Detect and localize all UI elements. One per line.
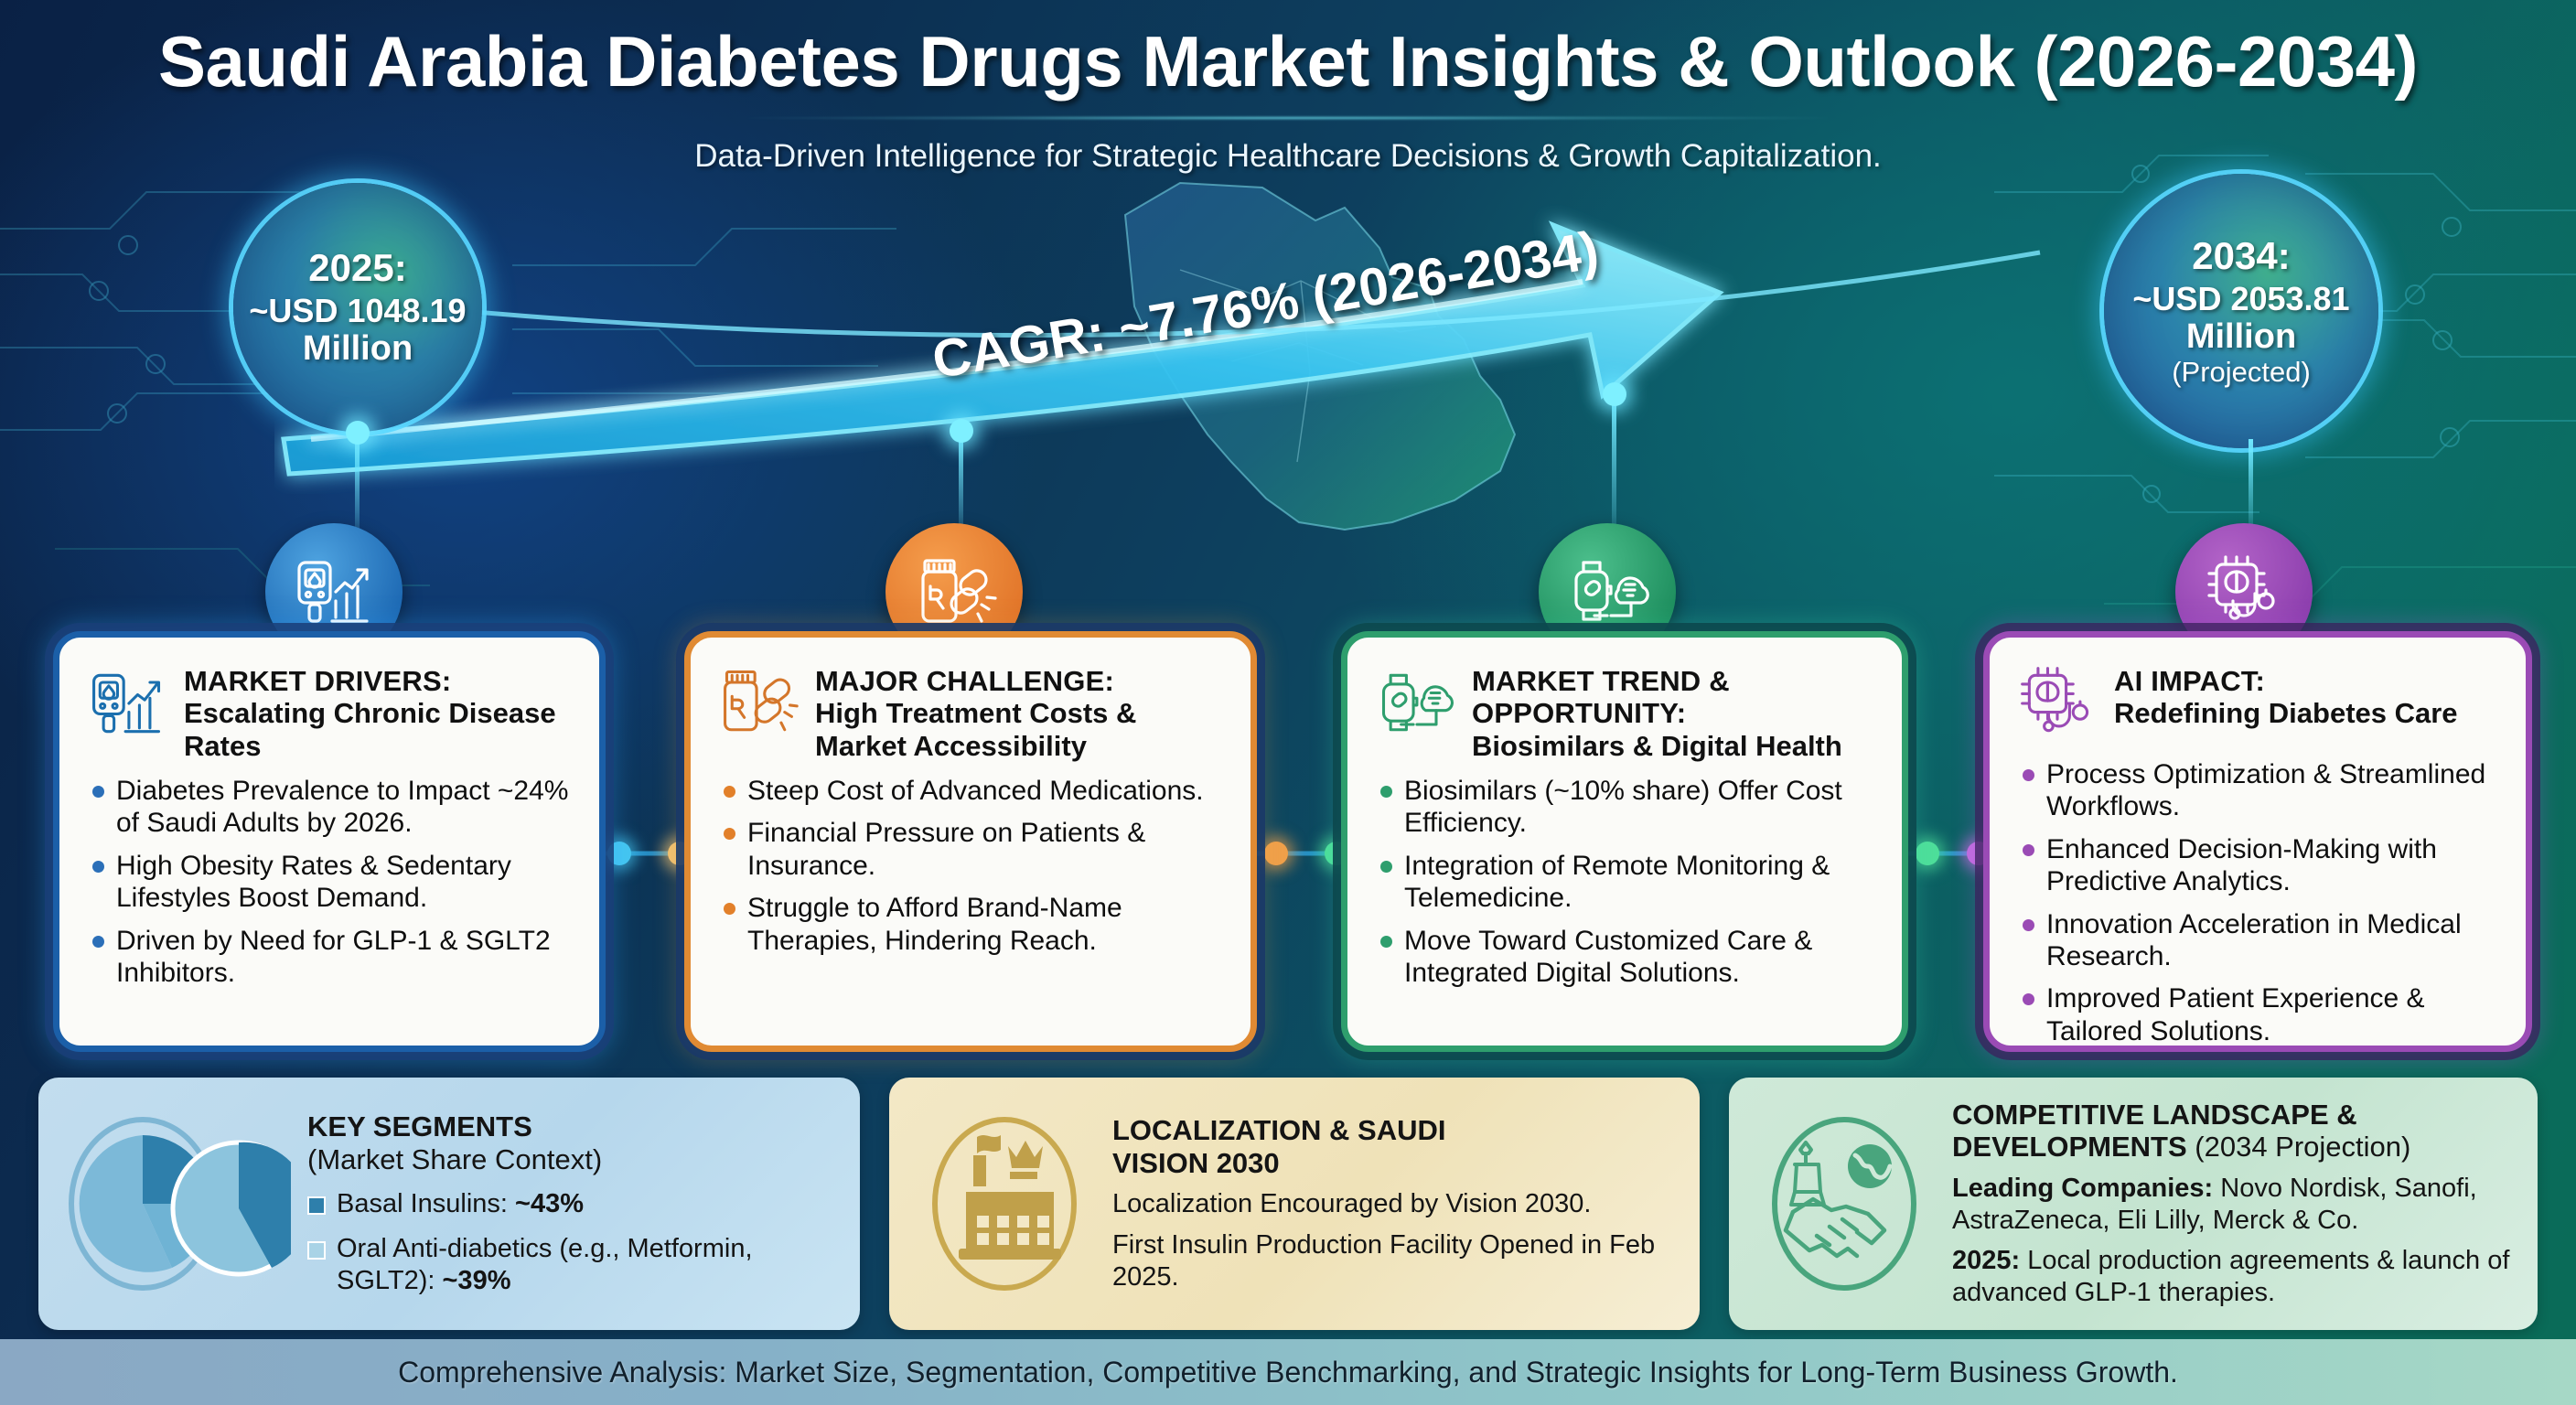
footer-text: Comprehensive Analysis: Market Size, Seg… [398,1356,2178,1389]
legend-label: Oral Anti-diabetics (e.g., Metformin, SG… [337,1234,753,1295]
handshake-globe-icon [1753,1099,1936,1309]
footer-bar: Comprehensive Analysis: Market Size, Seg… [0,1339,2576,1405]
header: Saudi Arabia Diabetes Drugs Market Insig… [0,0,2576,175]
developments-2025-line: 2025: Local production agreements & laun… [1952,1245,2514,1309]
card-bullet-list: Steep Cost of Advanced Medications. Fina… [716,775,1225,957]
localization-line-2: First Insulin Production Facility Opened… [1112,1229,1676,1293]
card-header: AI IMPACT: Redefining Diabetes Care [2015,661,2500,745]
value-2025: ~USD 1048.19 [249,293,466,329]
market-value-2034-circle: 2034: ~USD 2053.81 Million (Projected) [2104,174,2378,448]
panel-localization[interactable]: LOCALIZATION & SAUDI VISION 2030 Localiz… [889,1078,1700,1330]
card-subtitle: High Treatment Costs & Market Accessibil… [815,697,1225,762]
list-item: Struggle to Afford Brand-Name Therapies,… [716,892,1225,957]
panel-text: KEY SEGMENTS (Market Share Context) Basa… [307,1110,836,1296]
market-value-2025-circle: 2025: ~USD 1048.19 Million [233,183,482,432]
panel-text: COMPETITIVE LANDSCAPE & DEVELOPMENTS (20… [1952,1099,2514,1309]
rx-bottle-pills-icon [716,661,800,745]
panel-key-segments[interactable]: KEY SEGMENTS (Market Share Context) Basa… [38,1078,860,1330]
insight-cards: MARKET DRIVERS: Escalating Chronic Disea… [0,631,2576,1052]
card-header: MARKET DRIVERS: Escalating Chronic Disea… [85,661,574,762]
glucometer-growth-chart-badge-icon [290,548,378,636]
card-bullet-list: Biosimilars (~10% share) Offer Cost Effi… [1373,775,1876,989]
panel-title-bold: KEY SEGMENTS [307,1110,532,1142]
projected-note-2034: (Projected) [2172,357,2311,389]
legend-item-basal-insulins: Basal Insulins: ~43% [307,1188,836,1220]
stem-2 [959,430,963,529]
card-kicker: MAJOR CHALLENGE: [815,665,1225,697]
list-item: Improved Patient Experience & Tailored S… [2015,982,2500,1047]
pie-chart-icon [62,1089,291,1318]
stem-4 [2249,439,2253,529]
card-kicker: AI IMPACT: [2114,665,2458,697]
panel-body: LOCALIZATION & SAUDI VISION 2030 Localiz… [913,1094,1676,1314]
leading-companies-label: Leading Companies: [1952,1174,2213,1203]
list-item: Move Toward Customized Care & Integrated… [1373,925,1876,990]
stem-3 [1612,393,1616,529]
legend-swatch-icon [307,1196,326,1215]
panel-title-regular: (2034 Projection) [2195,1131,2410,1163]
panel-title: KEY SEGMENTS (Market Share Context) [307,1110,836,1175]
panel-title-line1: LOCALIZATION & SAUDI [1112,1114,1446,1146]
card-bullet-list: Process Optimization & Streamlined Workf… [2015,758,2500,1047]
panel-title-line2: VISION 2030 [1112,1147,1280,1179]
card-titles: MARKET DRIVERS: Escalating Chronic Disea… [184,661,574,762]
card-kicker: MARKET DRIVERS: [184,665,574,697]
panel-competitive-landscape[interactable]: COMPETITIVE LANDSCAPE & DEVELOPMENTS (20… [1729,1078,2538,1330]
list-item: Financial Pressure on Patients & Insuran… [716,817,1225,882]
page-title: Saudi Arabia Diabetes Drugs Market Insig… [0,20,2576,103]
page-subtitle: Data-Driven Intelligence for Strategic H… [0,138,2576,175]
card-market-trend[interactable]: MARKET TREND & OPPORTUNITY: Biosimilars … [1341,631,1908,1052]
glucometer-growth-chart-icon [85,661,169,745]
card-header: MARKET TREND & OPPORTUNITY: Biosimilars … [1373,661,1876,762]
node-dot-2 [950,419,973,443]
ai-brain-chip-stethoscope-badge-icon [2200,548,2288,636]
panel-title-regular: (Market Share Context) [307,1143,602,1175]
panel-title: LOCALIZATION & SAUDI VISION 2030 [1112,1114,1676,1179]
legend-value: ~43% [515,1189,584,1218]
leading-companies-line: Leading Companies: Novo Nordisk, Sanofi,… [1952,1173,2514,1237]
list-item: Diabetes Prevalence to Impact ~24% of Sa… [85,775,574,840]
value-2034: ~USD 2053.81 [2132,281,2349,317]
card-subtitle: Escalating Chronic Disease Rates [184,697,574,762]
card-titles: MARKET TREND & OPPORTUNITY: Biosimilars … [1472,661,1876,762]
card-subtitle: Redefining Diabetes Care [2114,697,2458,729]
ai-brain-chip-stethoscope-icon [2015,661,2099,745]
smartwatch-cloud-badge-icon [1563,548,1651,636]
panel-text: LOCALIZATION & SAUDI VISION 2030 Localiz… [1112,1114,1676,1292]
card-titles: MAJOR CHALLENGE: High Treatment Costs & … [815,661,1225,762]
developments-year-value: Local production agreements & launch of … [1952,1246,2509,1307]
list-item: Enhanced Decision-Making with Predictive… [2015,833,2500,898]
list-item: Integration of Remote Monitoring & Telem… [1373,850,1876,915]
card-titles: AI IMPACT: Redefining Diabetes Care [2114,661,2458,730]
segment-legend: Basal Insulins: ~43% Oral Anti-diabetics… [307,1188,836,1296]
panel-title: COMPETITIVE LANDSCAPE & DEVELOPMENTS (20… [1952,1099,2514,1164]
list-item: High Obesity Rates & Sedentary Lifestyle… [85,850,574,915]
bottom-panels: KEY SEGMENTS (Market Share Context) Basa… [0,1078,2576,1330]
factory-crown-icon [913,1099,1096,1309]
title-glow-divider [748,116,1828,120]
node-dot-2025 [346,421,370,445]
list-item: Driven by Need for GLP-1 & SGLT2 Inhibit… [85,925,574,990]
list-item: Steep Cost of Advanced Medications. [716,775,1225,807]
legend-swatch-icon [307,1241,326,1260]
panel-body: COMPETITIVE LANDSCAPE & DEVELOPMENTS (20… [1753,1094,2514,1314]
list-item: Process Optimization & Streamlined Workf… [2015,758,2500,823]
card-kicker: MARKET TREND & OPPORTUNITY: [1472,665,1876,730]
card-ai-impact[interactable]: AI IMPACT: Redefining Diabetes Care Proc… [1983,631,2532,1052]
list-item: Innovation Acceleration in Medical Resea… [2015,908,2500,973]
unit-2025: Million [303,329,413,369]
legend-value: ~39% [443,1266,511,1295]
card-market-drivers[interactable]: MARKET DRIVERS: Escalating Chronic Disea… [53,631,606,1052]
smartwatch-cloud-icon [1373,661,1457,745]
infographic-root: Saudi Arabia Diabetes Drugs Market Insig… [0,0,2576,1405]
legend-item-oral-antidiabetics: Oral Anti-diabetics (e.g., Metformin, SG… [307,1233,836,1297]
year-2034-label: 2034: [2192,234,2290,277]
unit-2034: Million [2186,317,2296,357]
developments-year-label: 2025: [1952,1246,2020,1275]
card-bullet-list: Diabetes Prevalence to Impact ~24% of Sa… [85,775,574,989]
panel-body: KEY SEGMENTS (Market Share Context) Basa… [62,1094,836,1314]
card-subtitle: Biosimilars & Digital Health [1472,730,1876,762]
card-major-challenge[interactable]: MAJOR CHALLENGE: High Treatment Costs & … [684,631,1257,1052]
list-item: Biosimilars (~10% share) Offer Cost Effi… [1373,775,1876,840]
card-header: MAJOR CHALLENGE: High Treatment Costs & … [716,661,1225,762]
localization-line-1: Localization Encouraged by Vision 2030. [1112,1188,1676,1220]
stem-2025 [355,432,360,532]
rx-bottle-pills-badge-icon [910,548,998,636]
legend-label: Basal Insulins: [337,1189,515,1218]
node-dot-3 [1603,382,1626,406]
year-2025-label: 2025: [308,246,406,289]
